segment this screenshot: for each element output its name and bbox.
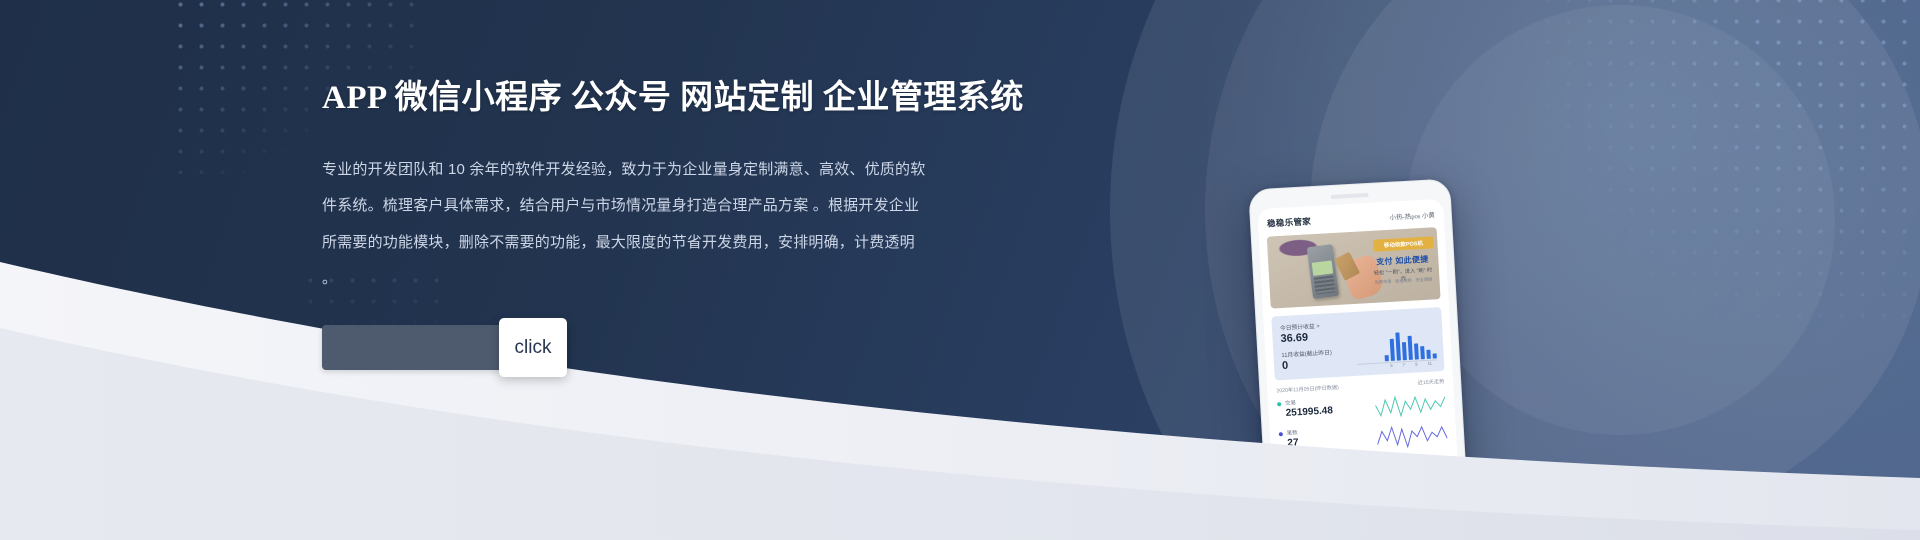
hero-copy: APP 微信小程序 公众号 网站定制 企业管理系统 专业的开发团队和 10 余年… — [322, 70, 962, 297]
click-button[interactable]: click — [499, 318, 567, 377]
page-title: APP 微信小程序 公众号 网站定制 企业管理系统 — [322, 70, 962, 118]
hero-banner: 稳稳乐管家 小热-热pos 小黄 移动收款POS机 支付 如此便捷 轻松 — [0, 0, 1920, 540]
hero-paragraph: 专业的开发团队和 10 余年的软件开发经验，致力于为企业量身定制满意、高效、优质… — [322, 152, 934, 297]
phone-speaker — [1331, 193, 1369, 199]
